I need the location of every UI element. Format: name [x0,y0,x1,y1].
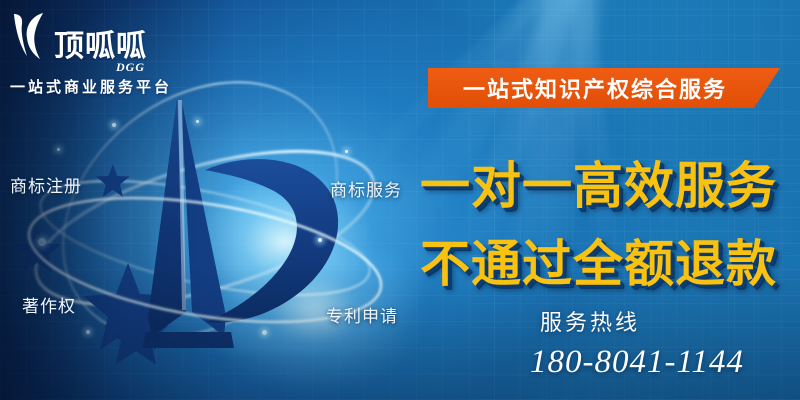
service-label-copyright[interactable]: 著作权 [22,292,76,317]
brand-name-cn: 顶呱呱 [54,32,147,62]
hotline-number[interactable]: 180-8041-1144 [530,344,744,381]
dgg-leaf-icon [10,10,50,62]
brand-tagline: 一站式商业服务平台 [10,76,200,97]
brand-name-en: DGG [116,60,145,75]
service-label-trademark-registration[interactable]: 商标注册 [10,172,82,197]
service-label-patent-application[interactable]: 专利申请 [326,302,398,327]
service-label-trademark-service[interactable]: 商标服务 [330,176,402,201]
ribbon-text: 一站式知识产权综合服务 [463,72,745,104]
hotline-label: 服务热线 [540,305,640,337]
brand-logo[interactable]: 顶呱呱 DGG 一站式商业服务平台 [10,10,200,90]
right-content-panel: 一站式知识产权综合服务 一对一高效服务 不通过全额退款 服务热线 180-804… [410,0,800,400]
ribbon-banner: 一站式知识产权综合服务 [428,68,780,108]
promo-banner: 顶呱呱 DGG 一站式商业服务平台 商标注册 商标服务 著作权 专利申请 一站式… [0,0,800,400]
headline-line-1: 一对一高效服务 [420,146,777,218]
headline-line-2: 不通过全额退款 [420,224,777,296]
